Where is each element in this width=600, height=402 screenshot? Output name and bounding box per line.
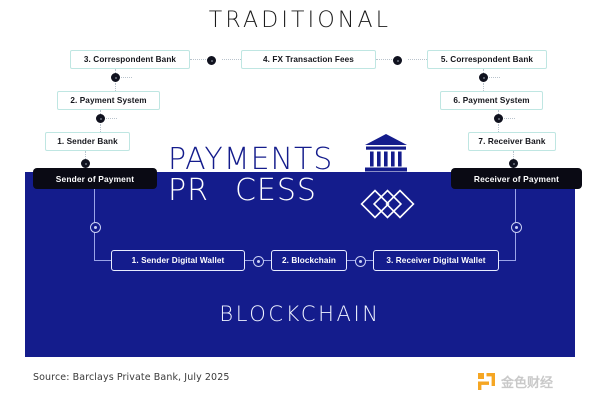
box-correspondent-bank-right[interactable]: 5. Correspondent Bank (427, 50, 547, 69)
connector-line (515, 231, 516, 261)
box-fx-transaction-fees[interactable]: 4. FX Transaction Fees (241, 50, 376, 69)
box-correspondent-bank-left[interactable]: 3. Correspondent Bank (70, 50, 190, 69)
connector-line (498, 124, 499, 132)
connector-node (81, 159, 90, 168)
connector-line (501, 118, 515, 119)
connector-line (222, 59, 241, 60)
box-receiver-digital-wallet[interactable]: 3. Receiver Digital Wallet (373, 250, 499, 271)
payments-process-logo: PAYMENTS PRCESS (168, 144, 333, 206)
connector-line (115, 83, 116, 91)
connector-line (515, 189, 516, 226)
connector-line (483, 83, 484, 91)
connector-line (100, 124, 101, 132)
watermark-text: 金色财经 (501, 372, 553, 391)
connector-line (408, 59, 427, 60)
box-label: 1. Sender Bank (57, 137, 118, 146)
connector-line (118, 77, 132, 78)
connector-line (103, 118, 117, 119)
pill-sender-of-payment[interactable]: Sender of Payment (33, 168, 157, 189)
pill-label: Receiver of Payment (474, 174, 559, 184)
logo-line-payments: PAYMENTS (168, 144, 333, 175)
pill-label: Sender of Payment (56, 174, 134, 184)
connector-line (513, 151, 514, 159)
watermark-logo-icon (478, 373, 495, 390)
box-blockchain[interactable]: 2. Blockchain (271, 250, 347, 271)
box-sender-digital-wallet[interactable]: 1. Sender Digital Wallet (111, 250, 245, 271)
logo-text-pr: PR (168, 173, 209, 208)
box-label: 7. Receiver Bank (478, 137, 545, 146)
connector-node (90, 222, 101, 233)
box-payment-system-right[interactable]: 6. Payment System (440, 91, 543, 110)
logo-line-process: PRCESS (168, 175, 333, 206)
box-label: 3. Correspondent Bank (84, 55, 176, 64)
connector-node (111, 73, 120, 82)
box-label: 5. Correspondent Bank (441, 55, 533, 64)
connector-line (190, 59, 208, 60)
pill-receiver-of-payment[interactable]: Receiver of Payment (451, 168, 582, 189)
connector-node (253, 256, 264, 267)
connector-node (479, 73, 488, 82)
connector-line (376, 59, 394, 60)
page-title: TRADITIONAL (0, 8, 600, 33)
connector-line (85, 151, 86, 159)
box-label: 2. Blockchain (282, 256, 336, 265)
connector-line (94, 231, 95, 261)
infographic-canvas: TRADITIONAL 3. Correspondent Bank 2. Pay… (0, 0, 600, 402)
connector-node (355, 256, 366, 267)
connector-line (499, 260, 516, 261)
box-label: 3. Receiver Digital Wallet (386, 256, 485, 265)
band-label-blockchain: BLOCKCHAIN (0, 302, 600, 326)
connector-node (494, 114, 503, 123)
connector-line (486, 77, 500, 78)
box-label: 4. FX Transaction Fees (263, 55, 354, 64)
logo-text-cess: CESS (235, 173, 317, 208)
connector-node (509, 159, 518, 168)
connector-node (511, 222, 522, 233)
connector-line (94, 260, 111, 261)
box-payment-system-left[interactable]: 2. Payment System (57, 91, 160, 110)
box-receiver-bank[interactable]: 7. Receiver Bank (468, 132, 556, 151)
box-label: 2. Payment System (70, 96, 146, 105)
source-caption: Source: Barclays Private Bank, July 2025 (33, 372, 229, 383)
connector-node (207, 56, 216, 65)
box-label: 1. Sender Digital Wallet (132, 256, 225, 265)
watermark: 金色财经 (478, 372, 553, 391)
interlocking-diamonds-icon (360, 188, 415, 221)
connector-node (393, 56, 402, 65)
bank-building-icon (364, 133, 408, 175)
connector-line (94, 189, 95, 226)
box-label: 6. Payment System (453, 96, 529, 105)
box-sender-bank[interactable]: 1. Sender Bank (45, 132, 130, 151)
connector-node (96, 114, 105, 123)
